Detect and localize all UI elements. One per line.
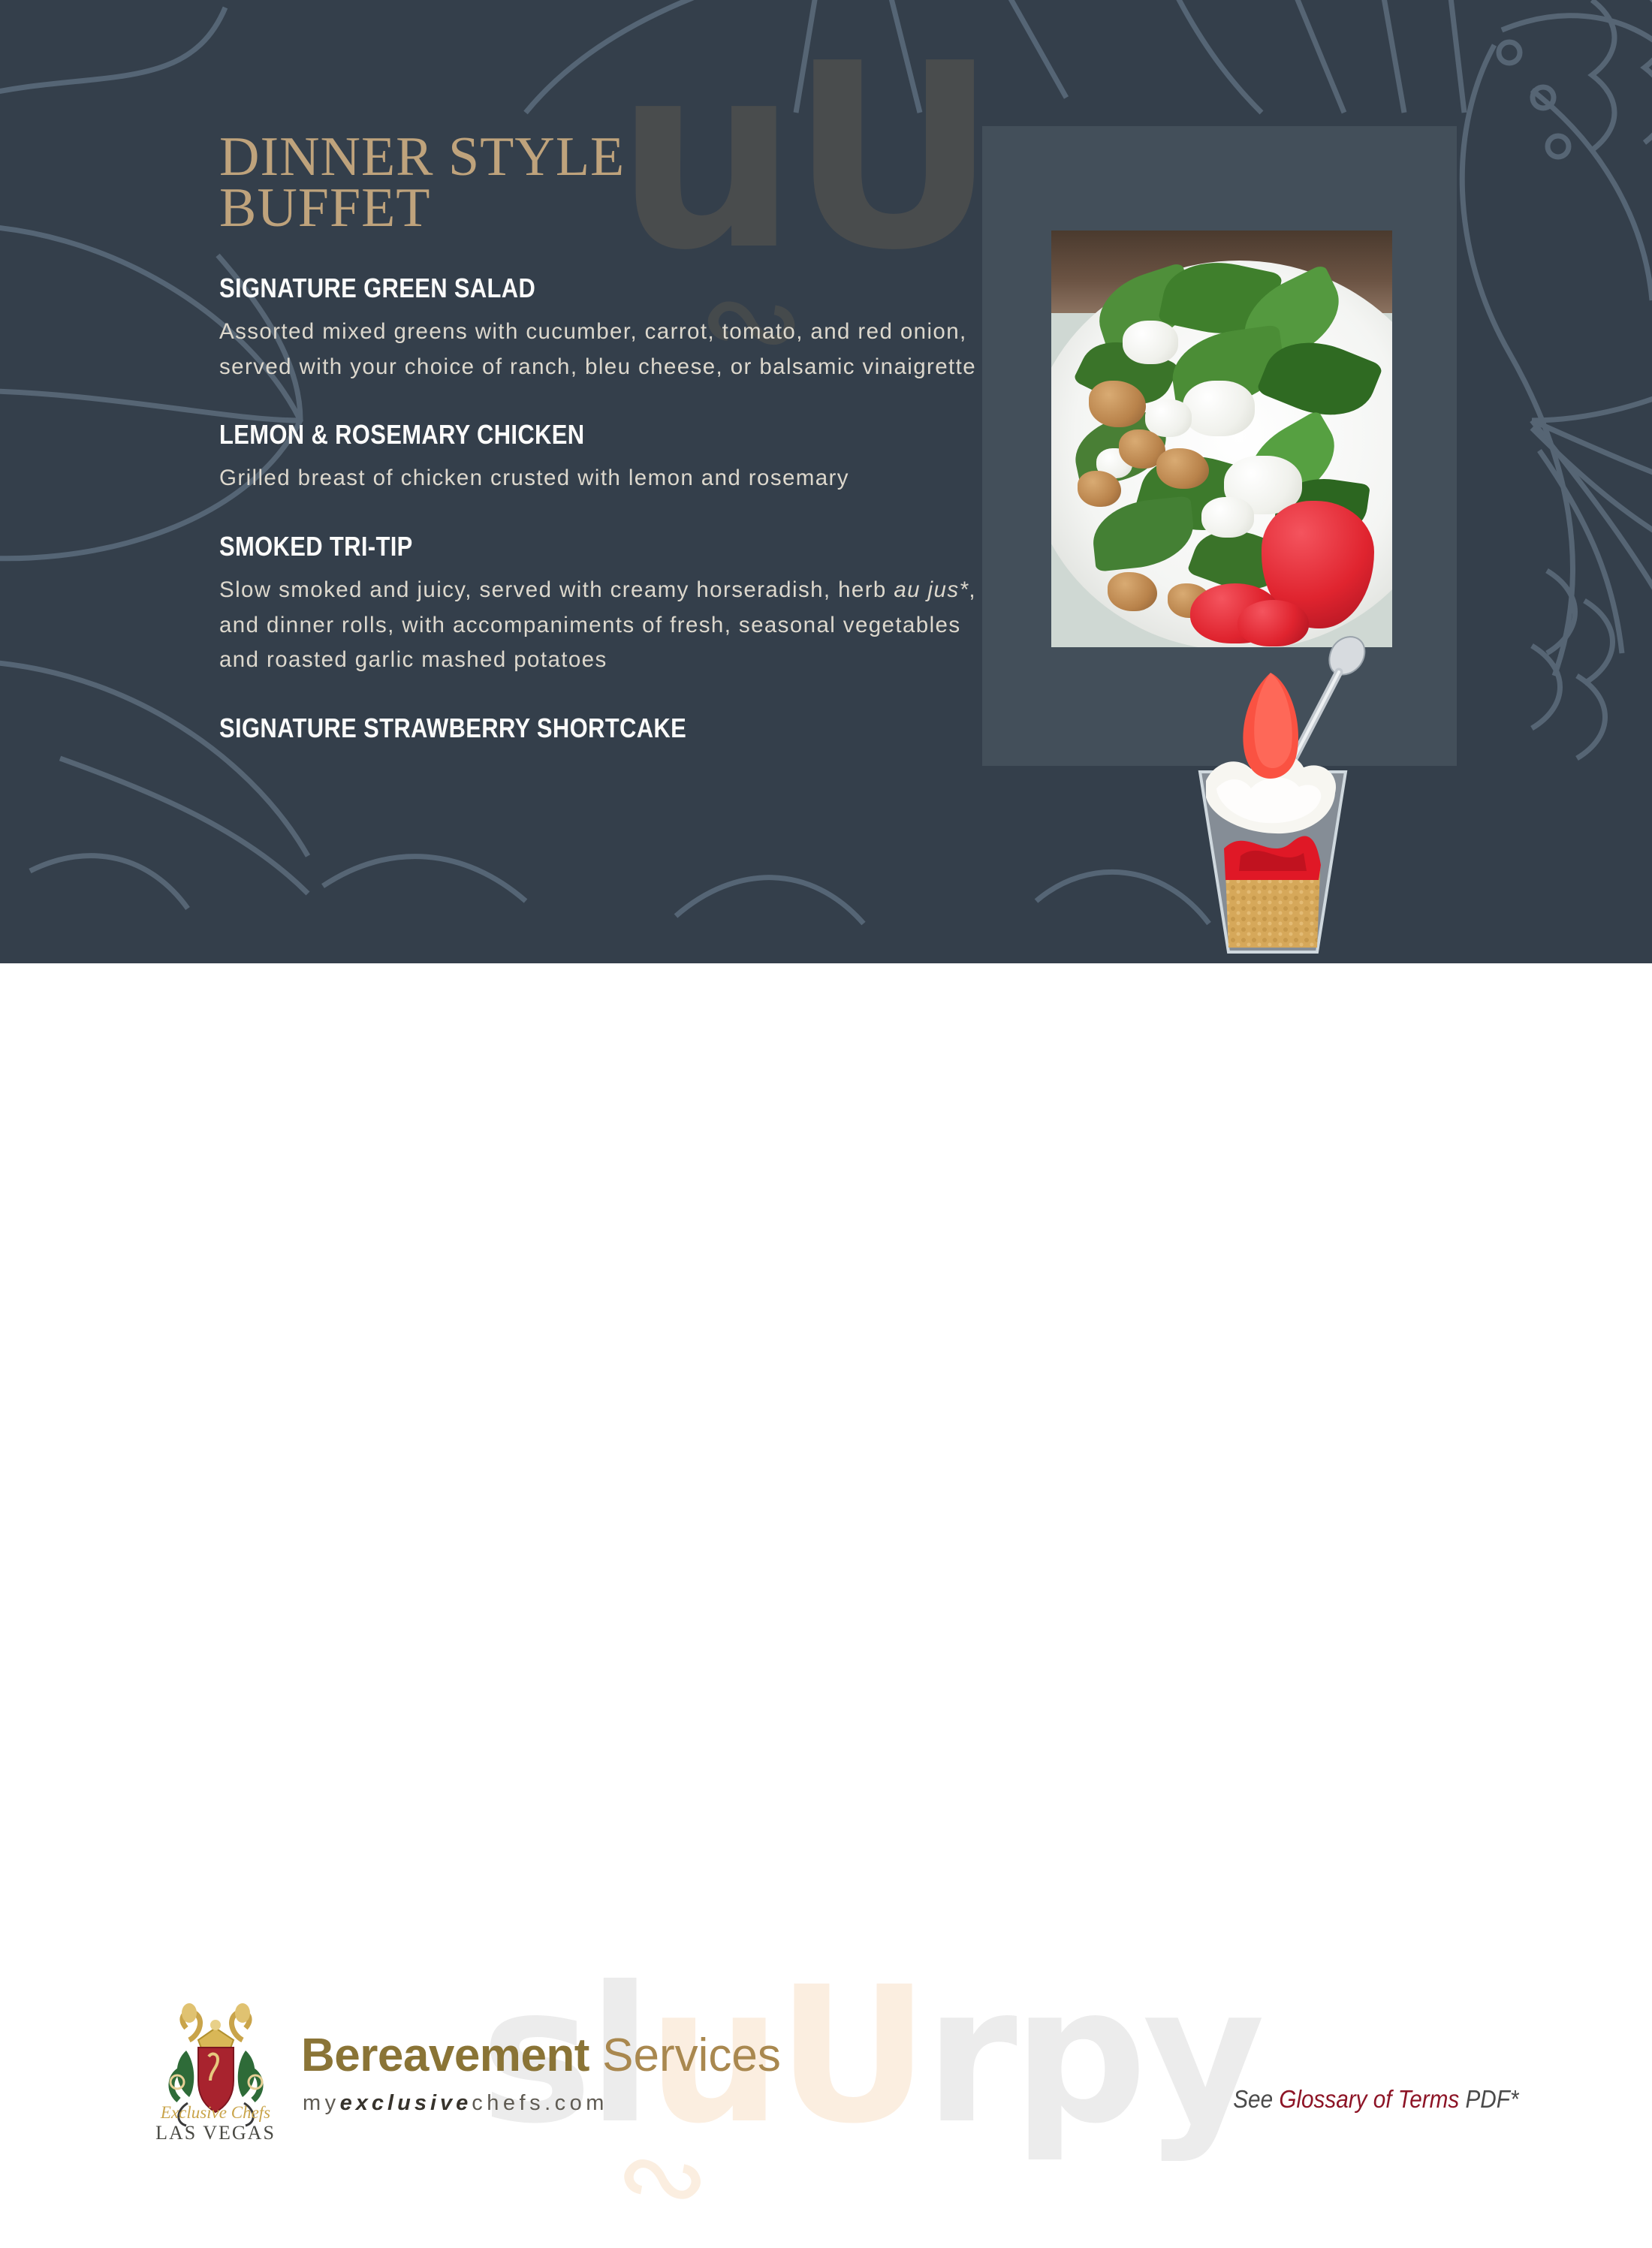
glossary-prefix: See xyxy=(1233,2085,1279,2113)
page-title: DINNER STYLE BUFFET xyxy=(219,131,978,234)
brand-url[interactable]: myexclusivechefs.com xyxy=(303,2091,781,2116)
salad-photo xyxy=(1051,231,1392,647)
brand-lockup[interactable]: Exclusive Chefs LAS VEGAS Bereavement Se… xyxy=(143,1998,781,2144)
menu-item-description: Assorted mixed greens with cucumber, car… xyxy=(219,315,978,384)
menu-item-description: Slow smoked and juicy, served with cream… xyxy=(219,573,978,678)
menu-item-tritip: SMOKED TRI-TIP Slow smoked and juicy, se… xyxy=(219,531,978,678)
crest-city-text: LAS VEGAS xyxy=(155,2122,276,2144)
desc-text: Assorted mixed greens with cucumber, car… xyxy=(219,319,976,379)
menu-item-chicken: LEMON & ROSEMARY CHICKEN Grilled breast … xyxy=(219,419,978,496)
menu-item-salad: SIGNATURE GREEN SALAD Assorted mixed gre… xyxy=(219,273,978,384)
brand-title-light: Services xyxy=(602,2030,781,2081)
menu-panel: uU ∾ xyxy=(0,0,1652,963)
desc-text-pre: Slow smoked and juicy, served with cream… xyxy=(219,577,894,602)
menu-item-name: SIGNATURE GREEN SALAD xyxy=(219,273,872,304)
url-pre: my xyxy=(303,2091,340,2115)
desc-text: Grilled breast of chicken crusted with l… xyxy=(219,466,849,490)
crest-script-text: Exclusive Chefs xyxy=(160,2103,270,2122)
glossary-link-text: Glossary of Terms xyxy=(1279,2085,1459,2113)
menu-item-name: SIGNATURE STRAWBERRY SHORTCAKE xyxy=(219,713,872,744)
brand-text-block: Bereavement Services myexclusivechefs.co… xyxy=(301,1998,781,2116)
strawberry-shortcake-cup xyxy=(1156,601,1389,963)
menu-item-name: SMOKED TRI-TIP xyxy=(219,531,872,562)
exclusive-chefs-crest-logo: Exclusive Chefs LAS VEGAS xyxy=(143,1998,289,2144)
footer: sluUrpy ∾ Exclusiv xyxy=(0,963,1652,1276)
glossary-suffix: PDF* xyxy=(1459,2085,1518,2113)
menu-text-column: DINNER STYLE BUFFET SIGNATURE GREEN SALA… xyxy=(219,131,978,755)
url-post: chefs.com xyxy=(472,2091,608,2115)
glossary-link[interactable]: See Glossary of Terms PDF* xyxy=(1233,2085,1518,2114)
watermark-part3: rpy xyxy=(924,1946,1260,2165)
menu-item-shortcake: SIGNATURE STRAWBERRY SHORTCAKE xyxy=(219,713,978,744)
menu-title-line2: BUFFET xyxy=(219,182,978,234)
brand-title-bold: Bereavement xyxy=(301,2030,589,2081)
menu-item-description: Grilled breast of chicken crusted with l… xyxy=(219,461,978,496)
url-emphasis: exclusive xyxy=(340,2091,472,2115)
brand-title: Bereavement Services xyxy=(301,2033,781,2079)
desc-text-italic: au jus* xyxy=(894,577,969,602)
menu-item-name: LEMON & ROSEMARY CHICKEN xyxy=(219,419,872,451)
